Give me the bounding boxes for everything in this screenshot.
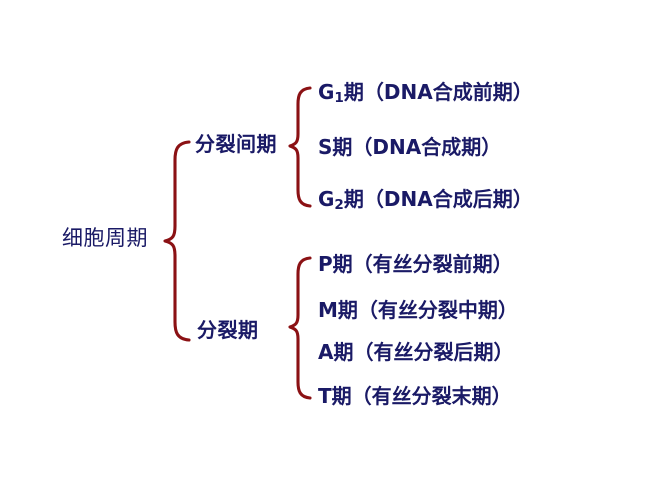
cell-cycle-diagram: 细胞周期 分裂间期 G1期（DNA合成前期） S期（DNA合成期） G2期（DN… bbox=[0, 0, 660, 480]
root-node-label: 细胞周期 bbox=[62, 228, 148, 249]
leaf-code: M bbox=[318, 298, 338, 322]
root-brace bbox=[163, 138, 193, 344]
leaf-suffix: 期（DNA合成期） bbox=[332, 135, 501, 159]
leaf-code: G bbox=[318, 80, 334, 104]
leaf-row: G1期（DNA合成前期） bbox=[318, 82, 533, 106]
branch-label-interphase: 分裂间期 bbox=[195, 134, 277, 154]
leaf-code: S bbox=[318, 135, 332, 159]
leaf-subscript: 2 bbox=[334, 197, 343, 213]
branch-label-mitotic-phase: 分裂期 bbox=[197, 320, 259, 340]
leaf-code: T bbox=[318, 384, 332, 408]
leaf-subscript: 1 bbox=[334, 90, 343, 106]
leaf-code: A bbox=[318, 340, 333, 364]
leaf-suffix: 期（有丝分裂中期） bbox=[338, 298, 518, 322]
leaf-row: P期（有丝分裂前期） bbox=[318, 254, 513, 278]
leaf-row: G2期（DNA合成后期） bbox=[318, 189, 533, 213]
leaf-suffix: 期（DNA合成后期） bbox=[344, 187, 533, 211]
leaf-code: P bbox=[318, 252, 333, 276]
interphase-brace bbox=[288, 84, 314, 210]
leaf-row: A期（有丝分裂后期） bbox=[318, 342, 513, 366]
leaf-suffix: 期（有丝分裂前期） bbox=[333, 252, 513, 276]
leaf-row: T期（有丝分裂末期） bbox=[318, 386, 512, 410]
leaf-suffix: 期（有丝分裂末期） bbox=[332, 384, 512, 408]
mitotic-phase-brace bbox=[288, 254, 314, 402]
leaf-row: S期（DNA合成期） bbox=[318, 137, 501, 161]
leaf-code: G bbox=[318, 187, 334, 211]
leaf-suffix: 期（DNA合成前期） bbox=[344, 80, 533, 104]
leaf-suffix: 期（有丝分裂后期） bbox=[333, 340, 513, 364]
leaf-row: M期（有丝分裂中期） bbox=[318, 300, 518, 324]
